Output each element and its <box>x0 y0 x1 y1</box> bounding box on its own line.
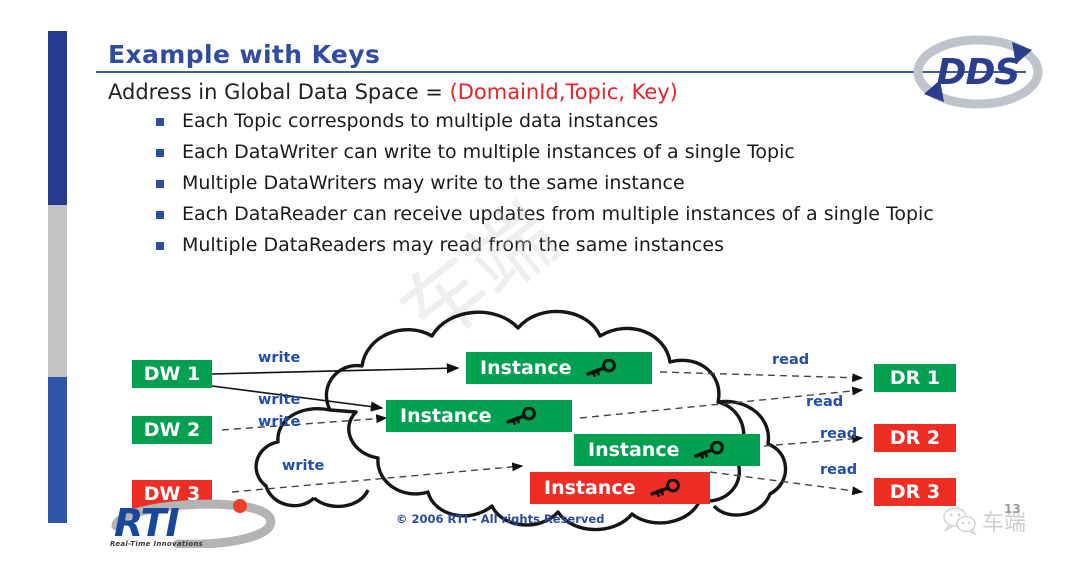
dds-logo-text: DDS <box>908 52 1048 93</box>
bullet-list: Each Topic corresponds to multiple data … <box>152 110 1032 265</box>
instance-box-3[interactable]: Instance <box>574 434 760 466</box>
datareader-label: DR 2 <box>890 427 940 449</box>
instance-box-1[interactable]: Instance <box>466 352 652 384</box>
datareader-box-3[interactable]: DR 3 <box>874 478 956 506</box>
datawriter-box-2[interactable]: DW 2 <box>132 416 212 444</box>
instance-label: Instance <box>400 405 491 427</box>
instance-box-4[interactable]: Instance <box>530 472 710 504</box>
wechat-watermark: 车端 <box>942 505 1026 537</box>
edge-label-write-1: write <box>258 350 300 366</box>
rti-tagline: Real-Time Innovations <box>110 540 203 548</box>
list-item: Multiple DataWriters may write to the sa… <box>152 172 1032 195</box>
datareader-box-2[interactable]: DR 2 <box>874 424 956 452</box>
accent-segment-top <box>48 31 67 205</box>
instance-label: Instance <box>480 357 571 379</box>
datareader-label: DR 1 <box>890 367 940 389</box>
bullet-text: Each DataWriter can write to multiple in… <box>182 141 795 163</box>
edge-label-read-2: read <box>806 394 843 410</box>
edge-label-read-1: read <box>772 352 809 368</box>
datawriter-label: DW 2 <box>144 419 201 441</box>
dds-logo: DDS <box>908 32 1048 112</box>
bullet-square-icon <box>156 118 164 126</box>
slide-canvas: Example with Keys Address in Global Data… <box>0 0 1080 580</box>
wechat-icon <box>942 507 978 535</box>
wechat-label: 车端 <box>982 505 1026 537</box>
instance-label: Instance <box>544 477 635 499</box>
title-underline <box>96 71 1026 73</box>
slide-subtitle: Address in Global Data Space = (DomainId… <box>108 80 678 104</box>
subtitle-plain-text: Address in Global Data Space = <box>108 80 450 104</box>
key-icon <box>647 479 681 497</box>
bullet-square-icon <box>156 149 164 157</box>
bullet-square-icon <box>156 242 164 250</box>
key-icon <box>503 407 537 425</box>
datareader-box-1[interactable]: DR 1 <box>874 364 956 392</box>
edge-label-read-4: read <box>820 462 857 478</box>
edge-label-write-3: write <box>258 414 300 430</box>
edge-label-write-4: write <box>282 458 324 474</box>
datawriter-label: DW 1 <box>144 363 201 385</box>
subtitle-highlight-text: (DomainId,Topic, Key) <box>450 80 678 104</box>
datawriter-box-1[interactable]: DW 1 <box>132 360 212 388</box>
slide-title: Example with Keys <box>108 40 380 69</box>
instance-label: Instance <box>588 439 679 461</box>
bullet-text: Multiple DataReaders may read from the s… <box>182 234 724 256</box>
datareader-label: DR 3 <box>890 481 940 503</box>
rti-logo: RTI Real-Time Innovations <box>108 496 288 554</box>
bullet-square-icon <box>156 211 164 219</box>
key-icon <box>583 359 617 377</box>
edge-label-write-2: write <box>258 392 300 408</box>
bullet-text: Multiple DataWriters may write to the sa… <box>182 172 685 194</box>
list-item: Each Topic corresponds to multiple data … <box>152 110 1032 133</box>
list-item: Multiple DataReaders may read from the s… <box>152 234 1032 257</box>
bullet-text: Each Topic corresponds to multiple data … <box>182 110 658 132</box>
list-item: Each DataWriter can write to multiple in… <box>152 141 1032 164</box>
instance-box-2[interactable]: Instance <box>386 400 572 432</box>
bullet-square-icon <box>156 180 164 188</box>
key-icon <box>691 441 725 459</box>
bullet-text: Each DataReader can receive updates from… <box>182 203 934 225</box>
copyright-notice: © 2006 RTI - All rights Reserved <box>396 512 604 526</box>
edge-label-read-3: read <box>820 426 857 442</box>
list-item: Each DataReader can receive updates from… <box>152 203 1032 226</box>
svg-text:RTI: RTI <box>114 501 179 545</box>
